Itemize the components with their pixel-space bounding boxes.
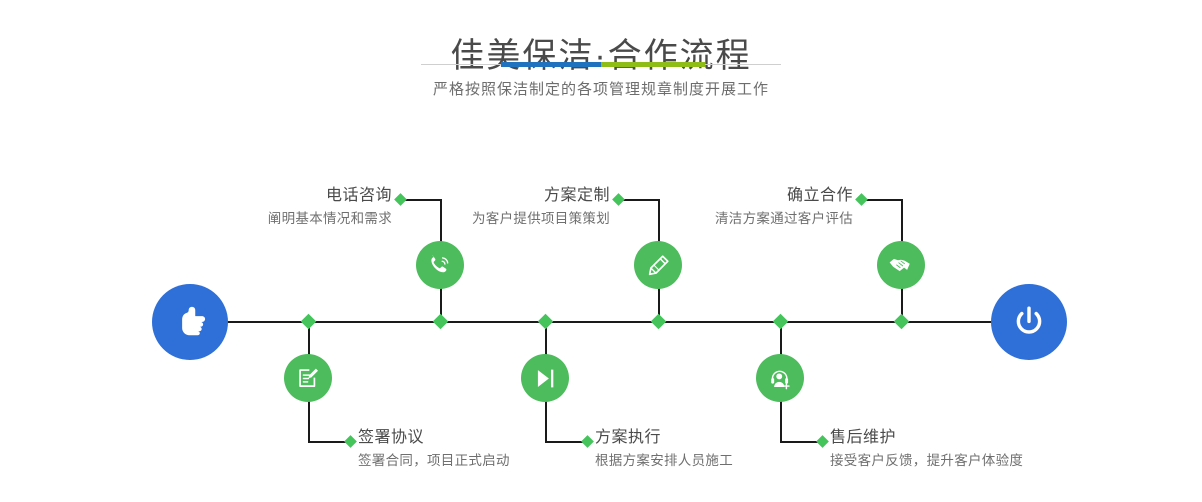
step-desc-3: 为客户提供项目策策划 [350,209,610,229]
timeline-end-node[interactable] [991,284,1067,360]
pointing-hand-icon [169,301,211,343]
divider-segment-blue [501,62,601,67]
flowchart-canvas: 佳美保洁·合作流程 严格按照保洁制定的各项管理规章制度开展工作 [0,0,1202,502]
handshake-icon [887,251,915,279]
step-label-3: 方案定制 为客户提供项目策策划 [350,186,610,229]
page-subtitle: 严格按照保洁制定的各项管理规章制度开展工作 [0,78,1202,99]
label-marker-5 [855,193,868,206]
step-icon-circle-2[interactable] [284,354,332,402]
step-label-6: 售后维护 接受客户反馈，提升客户体验度 [830,428,1160,471]
step-desc-5: 清洁方案通过客户评估 [595,209,853,229]
label-marker-2 [344,435,357,448]
step-icon-circle-3[interactable] [634,241,682,289]
step-icon-circle-5[interactable] [877,241,925,289]
pencil-plan-icon [645,252,672,279]
step-icon-circle-4[interactable] [521,354,569,402]
phone-call-icon [427,252,454,279]
axis-marker-6 [773,314,789,330]
axis-marker-5 [894,314,910,330]
page-title: 佳美保洁·合作流程 [0,34,1202,78]
axis-marker-4 [538,314,554,330]
step-icon-circle-1[interactable] [416,241,464,289]
step-title-5: 确立合作 [595,186,853,206]
timeline-start-node[interactable] [152,284,228,360]
axis-marker-1 [433,314,449,330]
axis-marker-2 [301,314,317,330]
document-edit-icon [295,365,322,392]
step-desc-6: 接受客户反馈，提升客户体验度 [830,451,1160,471]
step-icon-circle-6[interactable] [756,354,804,402]
header: 佳美保洁·合作流程 [0,34,1202,78]
step-label-5: 确立合作 清洁方案通过客户评估 [595,186,853,229]
divider-segment-green [601,62,705,67]
power-icon [1009,302,1049,342]
headset-support-icon [767,365,794,392]
play-execute-icon [532,365,559,392]
step-title-3: 方案定制 [350,186,610,206]
axis-marker-3 [651,314,667,330]
step-title-6: 售后维护 [830,428,1160,448]
title-divider [421,62,781,68]
